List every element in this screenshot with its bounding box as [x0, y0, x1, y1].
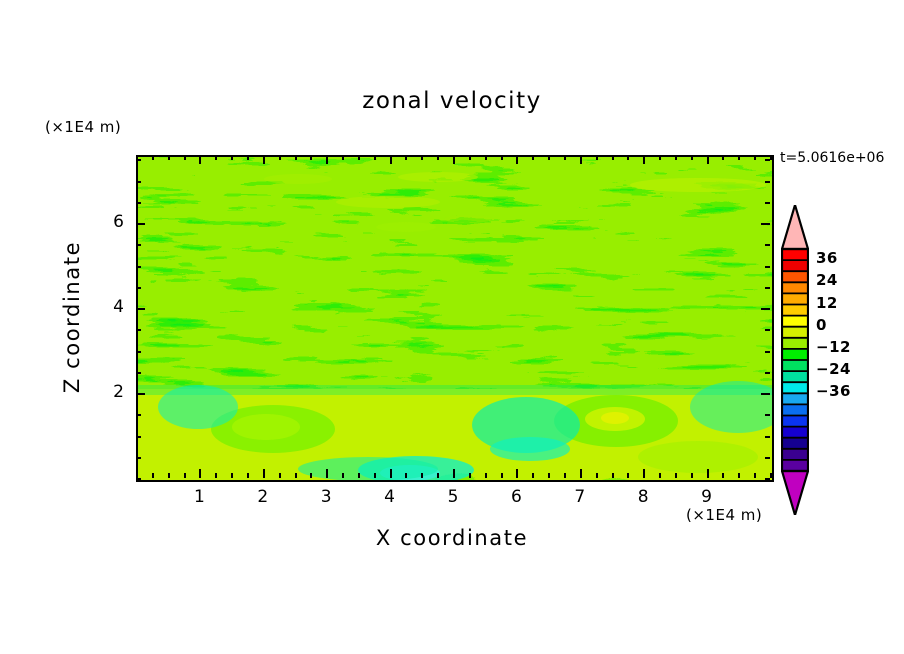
x-tick-minor [279, 473, 281, 478]
region-seam [138, 385, 772, 395]
x-tick-minor [738, 473, 740, 478]
x-tick-minor [231, 155, 233, 160]
y-tick-minor [136, 287, 141, 289]
colorbar-band [782, 249, 808, 261]
y-tick-minor [765, 478, 770, 480]
x-tick-major [326, 155, 328, 164]
x-tick-minor [770, 473, 772, 478]
colorbar-band [782, 260, 808, 272]
y-tick-major [136, 308, 145, 310]
x-tick-minor [247, 473, 249, 478]
x-tick-minor [596, 473, 598, 478]
x-tick-minor [770, 155, 772, 160]
colorbar-tick-label: −12 [816, 338, 851, 356]
x-axis-unit-label: (×1E4 m) [686, 506, 762, 524]
y-tick-major [761, 308, 770, 310]
x-tick-major [263, 155, 265, 164]
colorbar-tick-label: 36 [816, 249, 838, 267]
x-tick-minor [358, 473, 360, 478]
x-tick-major [199, 469, 201, 478]
x-tick-minor [612, 155, 614, 160]
x-tick-label: 2 [243, 487, 283, 507]
x-tick-label: 3 [306, 487, 346, 507]
x-tick-minor [469, 155, 471, 160]
y-tick-minor [765, 202, 770, 204]
x-tick-major [516, 155, 518, 164]
plot-frame [136, 155, 774, 482]
x-tick-minor [548, 155, 550, 160]
x-tick-minor [691, 473, 693, 478]
x-tick-major [707, 155, 709, 164]
y-tick-label: 4 [84, 297, 124, 317]
colorbar-over-arrow [782, 205, 808, 249]
x-tick-minor [485, 155, 487, 160]
y-tick-minor [136, 159, 141, 161]
y-tick-minor [765, 372, 770, 374]
upper-striation-region [138, 157, 772, 417]
y-tick-label: 2 [84, 382, 124, 402]
colorbar-band [782, 327, 808, 339]
x-tick-minor [215, 473, 217, 478]
x-tick-label: 8 [623, 487, 663, 507]
x-tick-minor [675, 473, 677, 478]
x-tick-major [643, 155, 645, 164]
x-tick-minor [691, 155, 693, 160]
y-tick-major [136, 223, 145, 225]
colorbar-band [782, 293, 808, 305]
colorbar-tick-label: −36 [816, 382, 851, 400]
contour-field [138, 157, 772, 480]
x-tick-minor [738, 155, 740, 160]
x-tick-minor [612, 473, 614, 478]
x-tick-minor [564, 473, 566, 478]
colorbar-band [782, 349, 808, 361]
x-tick-minor [168, 473, 170, 478]
colorbar[interactable] [781, 205, 809, 515]
y-tick-major [761, 223, 770, 225]
x-tick-minor [231, 473, 233, 478]
colorbar-band [782, 338, 808, 350]
x-tick-minor [532, 473, 534, 478]
x-tick-minor [485, 473, 487, 478]
x-tick-major [453, 469, 455, 478]
y-tick-minor [136, 478, 141, 480]
y-tick-minor [765, 287, 770, 289]
x-tick-label: 1 [179, 487, 219, 507]
x-tick-major [580, 469, 582, 478]
x-tick-minor [548, 473, 550, 478]
x-tick-minor [754, 155, 756, 160]
y-tick-minor [765, 457, 770, 459]
colorbar-band [782, 427, 808, 439]
colorbar-under-arrow [782, 471, 808, 515]
y-axis-unit-label: (×1E4 m) [45, 118, 121, 136]
x-axis-title: X coordinate [0, 526, 904, 550]
x-tick-minor [168, 155, 170, 160]
x-tick-label: 6 [496, 487, 536, 507]
x-tick-major [326, 469, 328, 478]
y-tick-minor [765, 159, 770, 161]
page-title: zonal velocity [0, 88, 904, 114]
x-tick-minor [659, 473, 661, 478]
colorbar-band [782, 316, 808, 328]
x-tick-label: 4 [370, 487, 410, 507]
x-tick-minor [421, 473, 423, 478]
y-tick-minor [765, 244, 770, 246]
colorbar-band [782, 460, 808, 472]
x-tick-minor [627, 155, 629, 160]
x-tick-minor [754, 473, 756, 478]
x-tick-minor [358, 155, 360, 160]
x-tick-minor [437, 473, 439, 478]
colorbar-band [782, 416, 808, 428]
x-tick-minor [374, 155, 376, 160]
x-tick-major [707, 469, 709, 478]
x-tick-minor [374, 473, 376, 478]
colorbar-band [782, 438, 808, 450]
y-tick-minor [136, 202, 141, 204]
x-tick-minor [279, 155, 281, 160]
y-tick-minor [765, 329, 770, 331]
y-tick-minor [136, 414, 141, 416]
y-tick-minor [136, 436, 141, 438]
x-tick-minor [722, 155, 724, 160]
x-tick-major [199, 155, 201, 164]
x-tick-label: 9 [687, 487, 727, 507]
x-tick-minor [405, 155, 407, 160]
x-tick-major [390, 469, 392, 478]
y-tick-minor [136, 457, 141, 459]
x-tick-major [580, 155, 582, 164]
y-tick-minor [136, 372, 141, 374]
x-tick-minor [295, 473, 297, 478]
x-tick-minor [659, 155, 661, 160]
x-tick-major [263, 469, 265, 478]
x-tick-minor [437, 155, 439, 160]
x-tick-minor [310, 155, 312, 160]
colorbar-band [782, 449, 808, 461]
x-tick-minor [421, 155, 423, 160]
colorbar-bands [782, 249, 808, 472]
x-tick-minor [532, 155, 534, 160]
colorbar-band [782, 271, 808, 283]
x-tick-minor [596, 155, 598, 160]
colorbar-band [782, 305, 808, 317]
x-tick-label: 5 [433, 487, 473, 507]
y-tick-major [136, 393, 145, 395]
x-tick-minor [564, 155, 566, 160]
y-axis-title: Z coordinate [60, 217, 84, 417]
y-tick-minor [765, 266, 770, 268]
y-tick-minor [765, 351, 770, 353]
y-tick-minor [765, 181, 770, 183]
x-tick-minor [342, 473, 344, 478]
x-tick-minor [501, 473, 503, 478]
contour-field-svg [138, 157, 772, 480]
x-tick-minor [310, 473, 312, 478]
x-tick-minor [722, 473, 724, 478]
colorbar-band [782, 360, 808, 372]
y-tick-minor [136, 351, 141, 353]
x-tick-major [643, 469, 645, 478]
y-tick-label: 6 [84, 212, 124, 232]
y-tick-major [761, 393, 770, 395]
x-tick-minor [501, 155, 503, 160]
colorbar-tick-label: 24 [816, 271, 838, 289]
x-tick-minor [184, 155, 186, 160]
colorbar-tick-label: 12 [816, 294, 838, 312]
x-tick-minor [215, 155, 217, 160]
x-tick-label: 7 [560, 487, 600, 507]
x-tick-minor [675, 155, 677, 160]
x-tick-minor [247, 155, 249, 160]
colorbar-band [782, 404, 808, 416]
y-tick-minor [765, 436, 770, 438]
colorbar-tick-label: 0 [816, 316, 827, 334]
x-tick-major [516, 469, 518, 478]
y-tick-minor [136, 244, 141, 246]
x-tick-minor [342, 155, 344, 160]
timestamp-annotation: t=5.0616e+06 [780, 150, 884, 166]
x-tick-minor [184, 473, 186, 478]
y-tick-minor [136, 181, 141, 183]
y-tick-minor [765, 414, 770, 416]
colorbar-band [782, 371, 808, 383]
x-tick-minor [295, 155, 297, 160]
x-tick-minor [152, 473, 154, 478]
x-tick-major [390, 155, 392, 164]
colorbar-tick-label: −24 [816, 360, 851, 378]
y-tick-minor [136, 329, 141, 331]
plot-canvas: zonal velocity (×1E4 m) t=5.0616e+06 [0, 0, 904, 654]
x-tick-minor [405, 473, 407, 478]
x-tick-minor [152, 155, 154, 160]
y-tick-minor [136, 266, 141, 268]
colorbar-band [782, 282, 808, 294]
x-tick-minor [627, 473, 629, 478]
colorbar-band [782, 393, 808, 405]
x-tick-major [453, 155, 455, 164]
colorbar-band [782, 382, 808, 394]
x-tick-minor [469, 473, 471, 478]
